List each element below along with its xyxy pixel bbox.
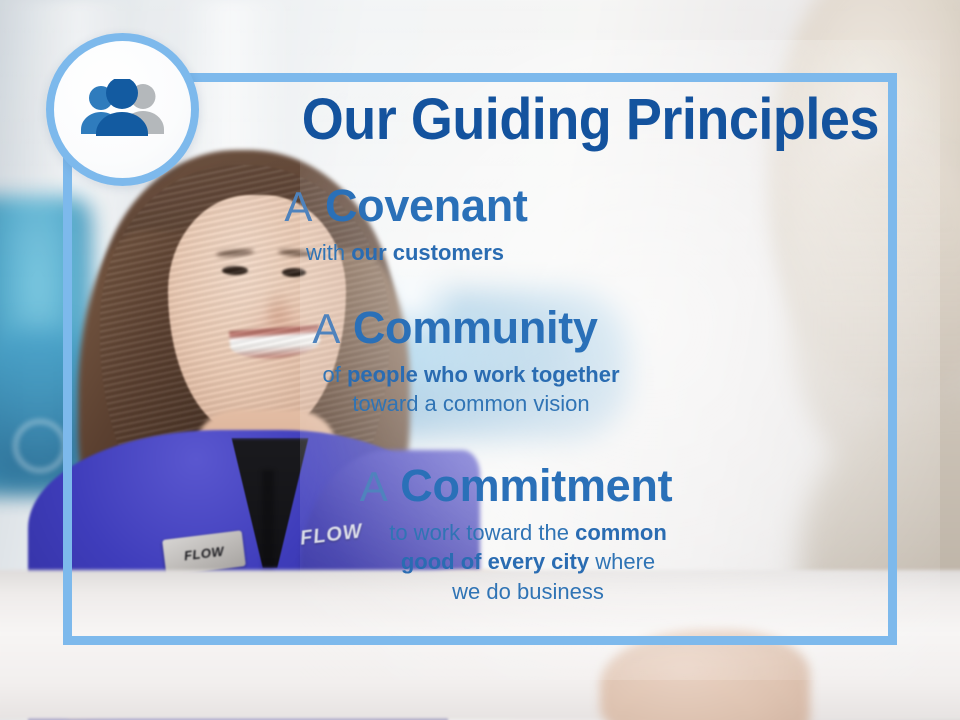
blurred-vehicle-badge — [14, 420, 66, 472]
people-group-icon-badge — [46, 33, 199, 186]
white-desk-surface — [0, 570, 960, 720]
people-group-icon — [77, 79, 169, 141]
guiding-principles-poster: FLOW FLOW Our Guiding Principles — [0, 0, 960, 720]
name-badge-logo-text: FLOW — [183, 543, 225, 563]
